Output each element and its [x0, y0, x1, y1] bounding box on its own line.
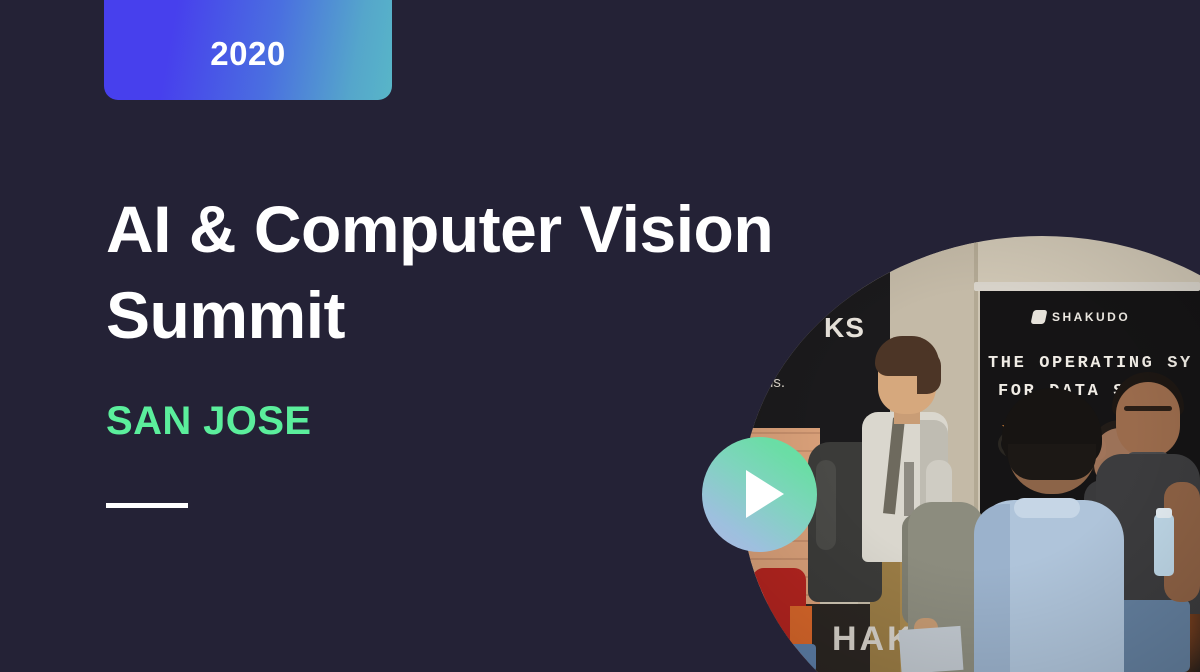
year-badge-label: 2020	[210, 37, 285, 70]
photo-person	[738, 588, 764, 656]
event-location: SAN JOSE	[106, 401, 846, 441]
year-badge: 2020	[104, 0, 392, 100]
hero-text-block: AI & Computer Vision Summit SAN JOSE	[106, 186, 846, 508]
divider	[106, 503, 188, 508]
event-slide: 2020 KS usto needs. rcial Tool SHAKU	[0, 0, 1200, 672]
page-title: AI & Computer Vision Summit	[106, 186, 846, 358]
